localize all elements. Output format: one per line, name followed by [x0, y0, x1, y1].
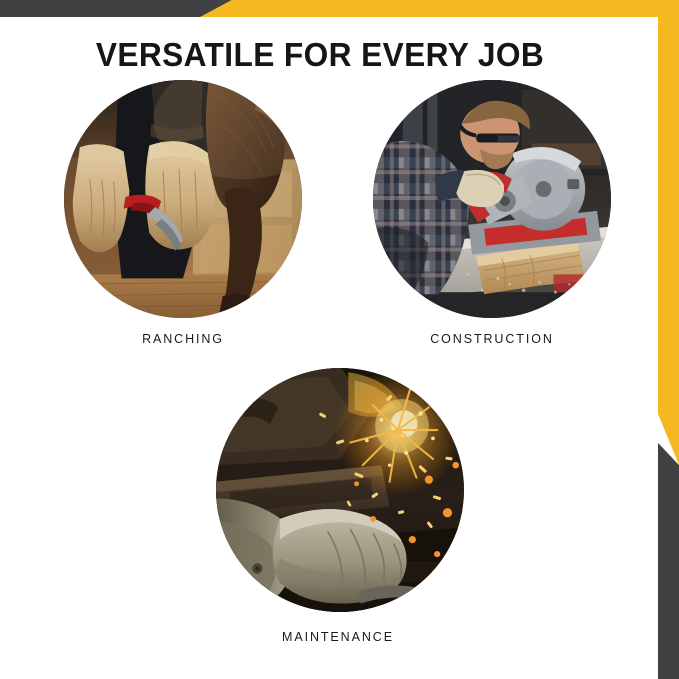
- construction-photo: [373, 80, 611, 318]
- card-construction: CONSTRUCTION: [372, 80, 612, 346]
- card-label-construction: CONSTRUCTION: [372, 332, 612, 346]
- ranching-photo: [64, 80, 302, 318]
- maintenance-photo: [216, 368, 464, 612]
- infographic-panel: VERSATILE FOR EVERY JOB: [0, 0, 679, 679]
- frame-right-yellow-bar: [658, 0, 679, 465]
- frame-right-dark-bar: [658, 440, 679, 679]
- card-label-ranching: RANCHING: [63, 332, 303, 346]
- frame-top-yellow-bar: [200, 0, 679, 17]
- card-maintenance: MAINTENANCE: [216, 368, 460, 644]
- card-ranching: RANCHING: [63, 80, 303, 346]
- page-title: VERSATILE FOR EVERY JOB: [13, 36, 627, 74]
- frame-top-dark-bar: [0, 0, 232, 17]
- card-label-maintenance: MAINTENANCE: [216, 630, 460, 644]
